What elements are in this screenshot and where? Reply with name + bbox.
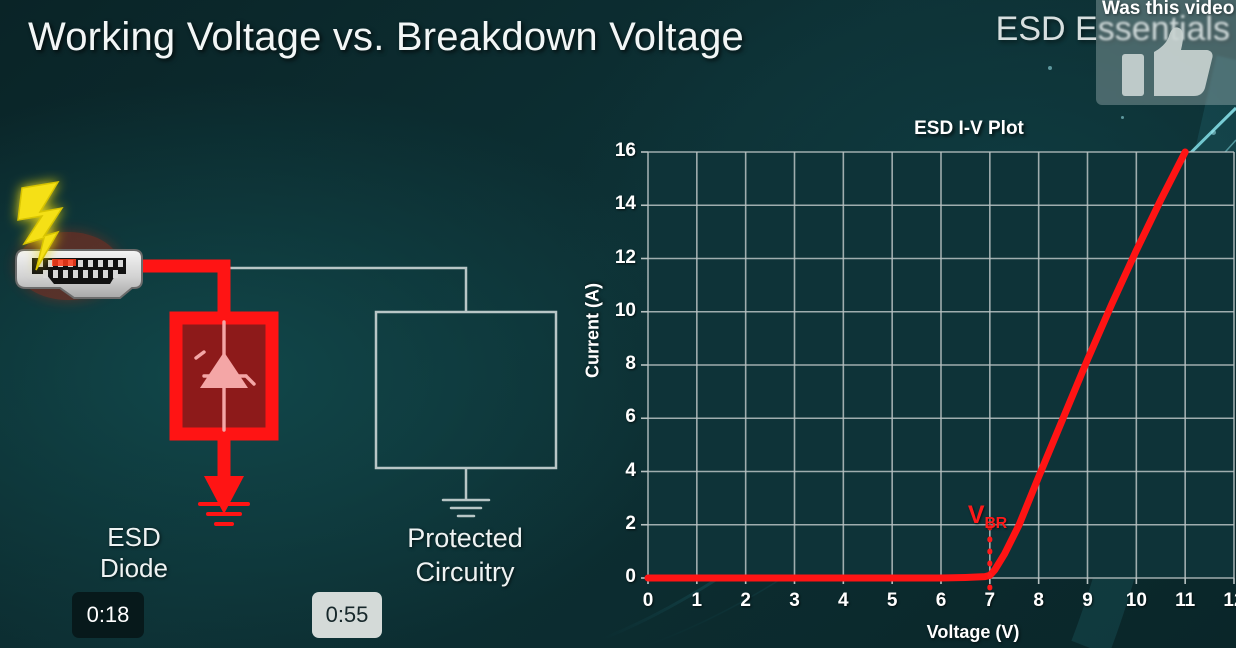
chart-ylabel: Current (A) [583, 256, 604, 406]
chart-plot-area [576, 110, 1236, 648]
feedback-overlay[interactable]: Was this video [1096, 0, 1236, 105]
thumbs-up-icon[interactable] [1122, 26, 1214, 100]
chart-x-tick: 12 [1217, 590, 1236, 612]
chart-x-tick: 5 [875, 590, 909, 612]
protected-label-line2: Circuitry [378, 556, 552, 590]
protected-circuitry-label: Protected Circuitry [378, 522, 552, 590]
timestamp-total[interactable]: 0:55 [312, 592, 382, 638]
vbr-subscript: BR [985, 515, 1007, 532]
esd-diode-label: ESD Diode [88, 522, 180, 583]
protected-circuitry-box [376, 312, 556, 468]
chart-x-tick: 3 [778, 590, 812, 612]
chart-x-tick: 9 [1071, 590, 1105, 612]
esd-diode-label-line2: Diode [88, 553, 180, 584]
chart-x-tick: 10 [1119, 590, 1153, 612]
esd-current-arrow [204, 476, 244, 514]
particle [1048, 66, 1052, 70]
circuit-diagram: ESD Diode Protected Circuitry [0, 170, 600, 570]
chart-y-tick: 6 [598, 406, 636, 428]
page-title: Working Voltage vs. Breakdown Voltage [28, 15, 744, 60]
video-frame: Working Voltage vs. Breakdown Voltage ES… [0, 0, 1236, 648]
esd-iv-chart: ESD I-V Plot Current (A) Voltage (V) 024… [576, 110, 1236, 648]
chart-x-tick: 0 [631, 590, 665, 612]
timestamp-current[interactable]: 0:18 [72, 592, 144, 638]
circuit-schematic [0, 170, 600, 570]
ground-symbol-protected [443, 500, 489, 516]
chart-y-tick: 10 [598, 300, 636, 322]
chart-y-tick: 16 [598, 140, 636, 162]
esd-diode-label-line1: ESD [88, 522, 180, 553]
protected-label-line1: Protected [378, 522, 552, 556]
chart-x-tick: 2 [729, 590, 763, 612]
chart-x-tick: 8 [1022, 590, 1056, 612]
chart-y-tick: 8 [598, 353, 636, 375]
chart-xlabel: Voltage (V) [858, 622, 1088, 643]
chart-y-tick: 12 [598, 247, 636, 269]
vbr-symbol: V [968, 501, 985, 529]
chart-y-tick: 2 [598, 513, 636, 535]
chart-x-tick: 11 [1168, 590, 1202, 612]
breakdown-voltage-label: VBR [968, 501, 1007, 533]
chart-x-tick: 1 [680, 590, 714, 612]
chart-x-tick: 4 [826, 590, 860, 612]
chart-y-tick: 0 [598, 566, 636, 588]
chart-x-tick: 7 [973, 590, 1007, 612]
chart-x-tick: 6 [924, 590, 958, 612]
chart-y-tick: 14 [598, 193, 636, 215]
feedback-prompt: Was this video [1102, 0, 1236, 20]
chart-title: ESD I-V Plot [844, 118, 1094, 140]
esd-signal-wire [133, 266, 224, 318]
chart-y-tick: 4 [598, 460, 636, 482]
